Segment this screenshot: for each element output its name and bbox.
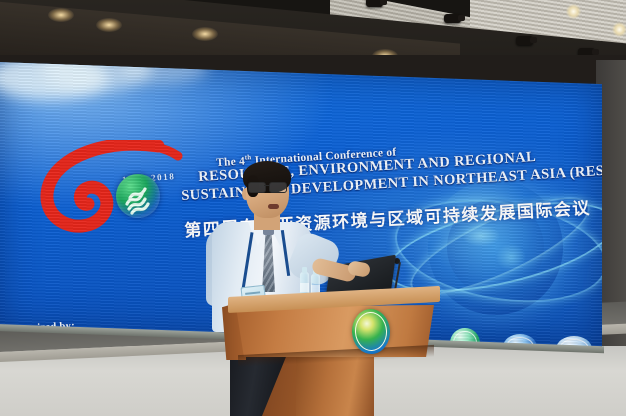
institute-emblem-icon [116, 174, 160, 218]
title-ordinal: th [244, 153, 251, 161]
track-spotlight-icon [444, 14, 461, 23]
downlight-icon [48, 8, 74, 22]
eyeglasses-icon [248, 182, 288, 192]
emblem-wave-glyph [116, 174, 160, 218]
speaker-mouth [268, 204, 279, 209]
anniversary-60-logo: 1958-2018 [38, 140, 188, 230]
track-spotlight-icon [366, 0, 383, 7]
ceiling-spot-glow [566, 4, 581, 19]
ceiling-spot-glow [612, 22, 626, 37]
anniversary-swirl-icon [38, 140, 188, 235]
downlight-icon [192, 27, 218, 41]
downlight-icon [96, 18, 122, 32]
conference-photo-scene: 1958-2018 The 4th International Conferen… [0, 0, 626, 416]
track-spotlight-icon [516, 36, 533, 45]
